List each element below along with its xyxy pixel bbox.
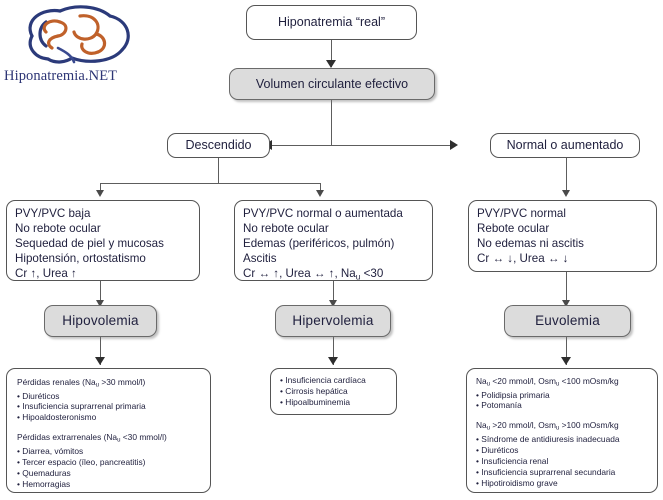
- connector-descendido-down: [218, 158, 219, 183]
- node-normal-o-aumentado-label: Normal o aumentado: [491, 135, 639, 155]
- arrowhead-to-hipervolemia-criteria: [316, 190, 324, 197]
- arrowhead-to-normal-aumentado: [450, 140, 458, 150]
- node-descendido-label: Descendido: [168, 135, 269, 155]
- connector-assessment-down: [331, 100, 332, 145]
- hipovolemia-causes-list: Pérdidas renales (Nau >30 mmol/l)Diuréti…: [7, 369, 210, 498]
- connector-descendido-split: [100, 183, 320, 184]
- arrowhead-to-euvolemia-criteria: [562, 190, 570, 197]
- node-hipervolemia-criteria[interactable]: PVY/PVC normal o aumentadaNo rebote ocul…: [234, 200, 433, 281]
- site-logo: Hiponatremia.NET: [2, 2, 152, 92]
- node-hipovolemia-causes[interactable]: Pérdidas renales (Nau >30 mmol/l)Diuréti…: [6, 368, 211, 493]
- logo-wordmark: Hiponatremia.NET: [4, 68, 152, 85]
- node-hiponatremia-real[interactable]: Hiponatremia “real”: [246, 5, 417, 40]
- node-volumen-circulante-efectivo[interactable]: Volumen circulante efectivo: [229, 68, 435, 100]
- node-hipervolemia[interactable]: Hipervolemia: [275, 305, 391, 337]
- node-hipovolemia-criteria[interactable]: PVY/PVC bajaNo rebote ocularSequedad de …: [6, 200, 200, 281]
- arrowhead-to-hipovolemia-causes: [95, 357, 105, 365]
- node-euvolemia-label: Euvolemia: [505, 307, 630, 335]
- node-volumen-circulante-efectivo-label: Volumen circulante efectivo: [230, 71, 434, 97]
- arrowhead-root-to-assessment: [326, 60, 336, 68]
- node-normal-o-aumentado[interactable]: Normal o aumentado: [490, 133, 640, 158]
- node-hipovolemia-label: Hipovolemia: [45, 307, 156, 335]
- arrowhead-to-hipervolemia-causes: [328, 357, 338, 365]
- node-euvolemia-criteria[interactable]: PVY/PVC normalRebote ocularNo edemas ni …: [468, 200, 657, 272]
- brain-icon: [2, 2, 152, 68]
- node-hipovolemia[interactable]: Hipovolemia: [44, 305, 157, 337]
- node-descendido[interactable]: Descendido: [167, 133, 270, 158]
- euvolemia-causes-list: Nau <20 mmol/l, Osmu <100 mOsm/kgPolidip…: [467, 369, 657, 496]
- node-hipervolemia-causes[interactable]: Insuficiencia cardíacaCirrosis hepáticaH…: [270, 368, 397, 415]
- node-hiponatremia-real-label: Hiponatremia “real”: [247, 9, 416, 35]
- arrowhead-to-hipovolemia-criteria: [96, 190, 104, 197]
- arrowhead-to-euvolemia-causes: [561, 357, 571, 365]
- node-hipervolemia-label: Hipervolemia: [276, 307, 390, 335]
- node-euvolemia[interactable]: Euvolemia: [504, 305, 631, 337]
- hipervolemia-criteria-lines: PVY/PVC normal o aumentadaNo rebote ocul…: [235, 201, 432, 287]
- node-euvolemia-causes[interactable]: Nau <20 mmol/l, Osmu <100 mOsm/kgPolidip…: [466, 368, 658, 493]
- connector-normal-down: [566, 158, 567, 193]
- euvolemia-criteria-lines: PVY/PVC normalRebote ocularNo edemas ni …: [469, 201, 656, 271]
- hipervolemia-causes-list: Insuficiencia cardíacaCirrosis hepáticaH…: [271, 369, 396, 414]
- hipovolemia-criteria-lines: PVY/PVC bajaNo rebote ocularSequedad de …: [7, 201, 199, 286]
